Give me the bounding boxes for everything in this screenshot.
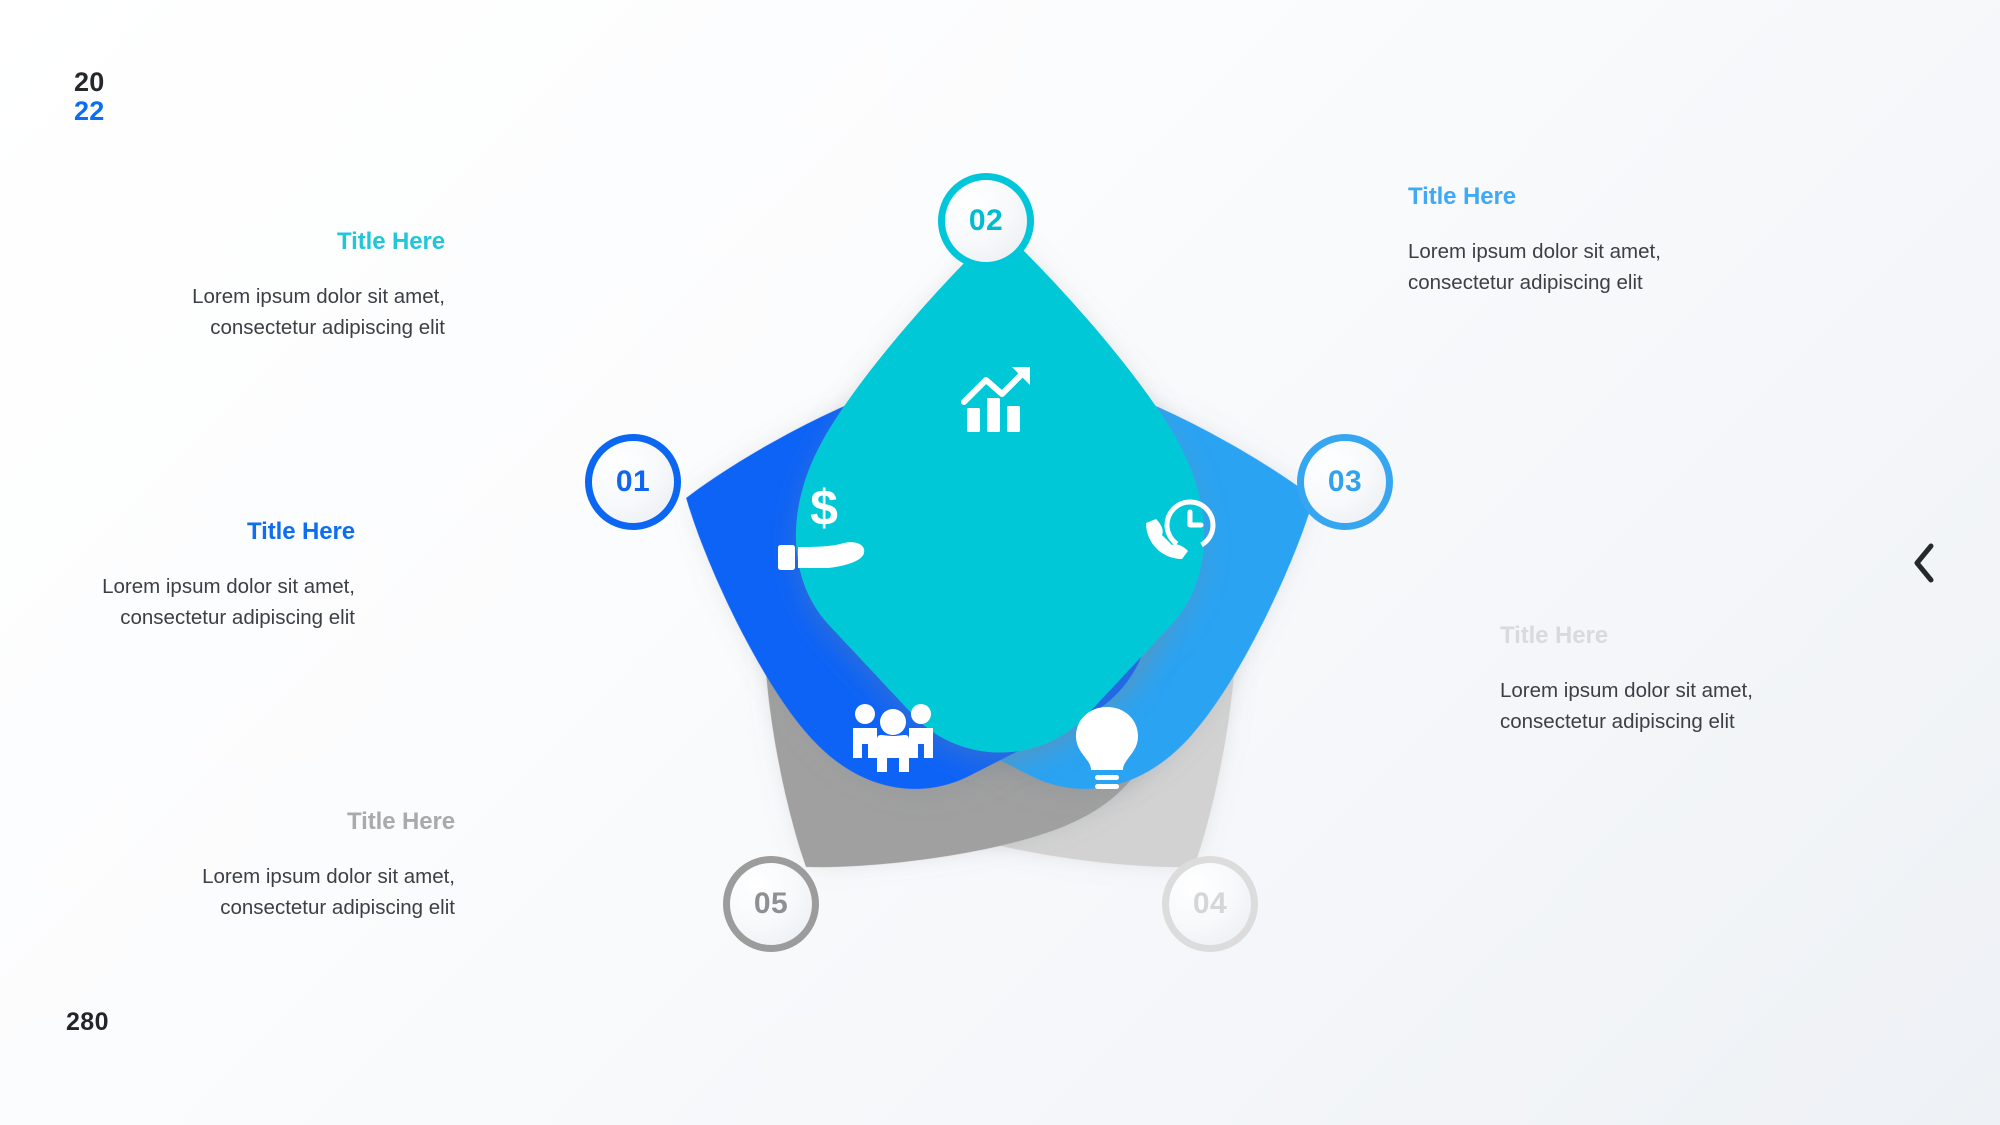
segment-title-04: Title Here — [1500, 622, 1820, 650]
segment-number-05[interactable]: 05 — [723, 856, 819, 952]
year-top-text: 20 — [74, 68, 104, 97]
segment-number-03[interactable]: 03 — [1297, 434, 1393, 530]
segment-number-04[interactable]: 04 — [1162, 856, 1258, 952]
segment-number-01[interactable]: 01 — [585, 434, 681, 530]
year-bottom-text: 22 — [74, 97, 104, 126]
segment-number-02[interactable]: 02 — [938, 173, 1034, 269]
segment-body-01: Lorem ipsum dolor sit amet, consectetur … — [35, 572, 355, 634]
year-marker: 20 22 — [74, 68, 104, 125]
page-number: 280 — [66, 1008, 109, 1037]
nav-previous-button[interactable] — [1898, 536, 1952, 590]
segment-title-05: Title Here — [135, 808, 455, 836]
segment-body-04: Lorem ipsum dolor sit amet, consectetur … — [1500, 676, 1820, 738]
segment-text-04: Title Here Lorem ipsum dolor sit amet, c… — [1500, 622, 1820, 738]
segment-title-03: Title Here — [1408, 183, 1728, 211]
segment-title-01: Title Here — [35, 518, 355, 546]
segment-text-02: Title Here Lorem ipsum dolor sit amet, c… — [125, 228, 445, 344]
segment-body-02: Lorem ipsum dolor sit amet, consectetur … — [125, 282, 445, 344]
segment-body-05: Lorem ipsum dolor sit amet, consectetur … — [135, 862, 455, 924]
segment-body-03: Lorem ipsum dolor sit amet, consectetur … — [1408, 237, 1728, 299]
segment-text-05: Title Here Lorem ipsum dolor sit amet, c… — [135, 808, 455, 924]
segment-text-01: Title Here Lorem ipsum dolor sit amet, c… — [35, 518, 355, 634]
segment-text-03: Title Here Lorem ipsum dolor sit amet, c… — [1408, 183, 1728, 299]
chevron-left-icon — [1910, 542, 1940, 584]
svg-text:$: $ — [810, 480, 838, 536]
segment-title-02: Title Here — [125, 228, 445, 256]
